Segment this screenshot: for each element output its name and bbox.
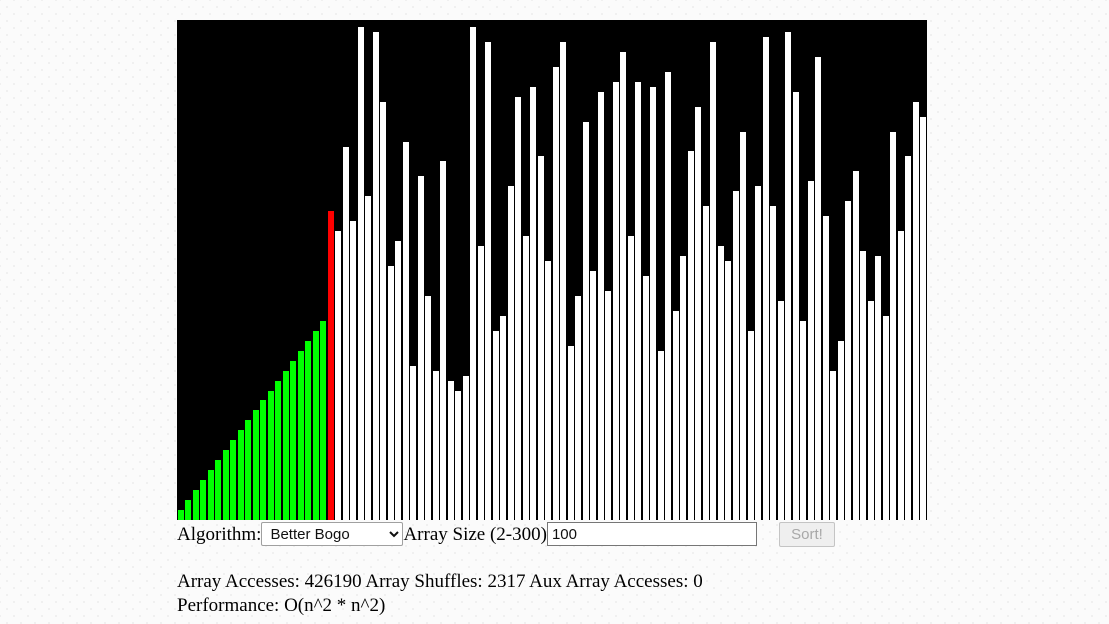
chart-bar	[530, 87, 536, 520]
chart-bar	[508, 186, 514, 520]
chart-bar	[560, 42, 566, 520]
chart-bar	[815, 57, 821, 520]
chart-bar	[538, 156, 544, 520]
chart-bar	[890, 132, 896, 520]
chart-bar	[740, 132, 746, 520]
chart-bar	[500, 316, 506, 520]
chart-bar	[305, 341, 311, 520]
chart-bar	[793, 92, 799, 520]
chart-bar	[223, 450, 229, 520]
chart-bar	[598, 92, 604, 520]
chart-bar	[200, 480, 206, 520]
chart-bar	[418, 176, 424, 520]
chart-bar	[335, 231, 341, 520]
array-size-label: Array Size (2-300)	[403, 525, 547, 544]
chart-bar	[575, 296, 581, 520]
chart-bar	[620, 52, 626, 520]
chart-bar	[853, 171, 859, 520]
chart-bar	[268, 391, 274, 520]
chart-bar	[388, 266, 394, 520]
chart-bar	[470, 27, 476, 520]
array-size-input[interactable]	[547, 522, 757, 546]
chart-bar	[185, 500, 191, 520]
chart-bar	[808, 181, 814, 520]
algorithm-label: Algorithm:	[177, 525, 261, 544]
chart-bar	[635, 82, 641, 520]
chart-bar	[275, 381, 281, 520]
chart-bar	[313, 331, 319, 520]
chart-bar	[785, 32, 791, 520]
chart-bar	[515, 97, 521, 520]
chart-bar	[395, 241, 401, 520]
chart-bar	[523, 236, 529, 520]
chart-bar	[733, 191, 739, 520]
chart-bar	[298, 351, 304, 520]
stats-panel: Array Accesses: 426190 Array Shuffles: 2…	[177, 570, 927, 619]
sorting-visualizer-app: Algorithm: Better Bogo Array Size (2-300…	[177, 20, 927, 619]
chart-bar	[868, 301, 874, 520]
chart-bar	[703, 206, 709, 520]
chart-bar	[440, 161, 446, 520]
chart-bar	[778, 301, 784, 520]
chart-bar	[545, 261, 551, 520]
chart-bar	[283, 371, 289, 520]
chart-bar	[823, 216, 829, 520]
chart-bar	[478, 246, 484, 520]
chart-bar	[403, 142, 409, 520]
chart-bar	[755, 186, 761, 520]
chart-bar	[905, 156, 911, 520]
chart-bar	[605, 291, 611, 520]
chart-bar	[463, 376, 469, 520]
chart-bar	[238, 430, 244, 520]
chart-bar	[410, 366, 416, 520]
chart-bar	[583, 122, 589, 520]
chart-bar	[710, 42, 716, 520]
chart-bar	[800, 321, 806, 520]
chart-bar	[260, 400, 266, 520]
chart-bar	[650, 87, 656, 520]
chart-bar	[695, 107, 701, 520]
chart-bar	[455, 391, 461, 520]
chart-bar	[253, 410, 259, 520]
chart-bar	[860, 251, 866, 520]
chart-bar	[725, 261, 731, 520]
chart-bar	[320, 321, 326, 520]
sort-button[interactable]: Sort!	[779, 522, 835, 547]
chart-bar	[920, 117, 926, 520]
algorithm-select[interactable]: Better Bogo	[261, 522, 403, 546]
chart-bar	[193, 490, 199, 520]
chart-bar	[875, 256, 881, 520]
chart-bar	[673, 311, 679, 520]
chart-bar	[883, 316, 889, 520]
chart-bar	[830, 371, 836, 520]
chart-bar	[365, 196, 371, 520]
stats-performance-line: Performance: O(n^2 * n^2)	[177, 594, 927, 618]
chart-bar	[770, 206, 776, 520]
chart-bar	[913, 102, 919, 520]
chart-bar	[680, 256, 686, 520]
chart-bar	[245, 420, 251, 520]
chart-bar	[230, 440, 236, 520]
chart-bar	[763, 37, 769, 520]
chart-bar	[425, 296, 431, 520]
chart-bar	[628, 236, 634, 520]
controls-bar: Algorithm: Better Bogo Array Size (2-300…	[177, 520, 927, 548]
chart-bar	[485, 42, 491, 520]
chart-bar	[665, 72, 671, 520]
chart-bar	[178, 510, 184, 520]
chart-bar	[718, 246, 724, 520]
chart-bar	[433, 371, 439, 520]
chart-bar	[613, 82, 619, 520]
chart-bar	[838, 341, 844, 520]
chart-bar	[208, 470, 214, 520]
chart-bar	[493, 331, 499, 520]
chart-bar	[290, 361, 296, 520]
chart-bar	[553, 67, 559, 520]
chart-bar	[358, 27, 364, 520]
chart-bar	[658, 351, 664, 520]
chart-bar	[448, 381, 454, 520]
chart-bar	[898, 231, 904, 520]
chart-bar	[328, 211, 334, 520]
chart-bar	[688, 151, 694, 520]
chart-bar	[380, 102, 386, 520]
chart-bar	[643, 276, 649, 520]
chart-bar	[215, 460, 221, 520]
chart-bar	[845, 201, 851, 520]
bar-chart-canvas[interactable]	[177, 20, 927, 520]
chart-bar	[350, 221, 356, 520]
chart-bar	[590, 271, 596, 520]
chart-bar	[373, 32, 379, 520]
chart-bar	[343, 147, 349, 521]
chart-bar	[748, 331, 754, 520]
chart-bar	[568, 346, 574, 520]
stats-counters-line: Array Accesses: 426190 Array Shuffles: 2…	[177, 570, 927, 594]
